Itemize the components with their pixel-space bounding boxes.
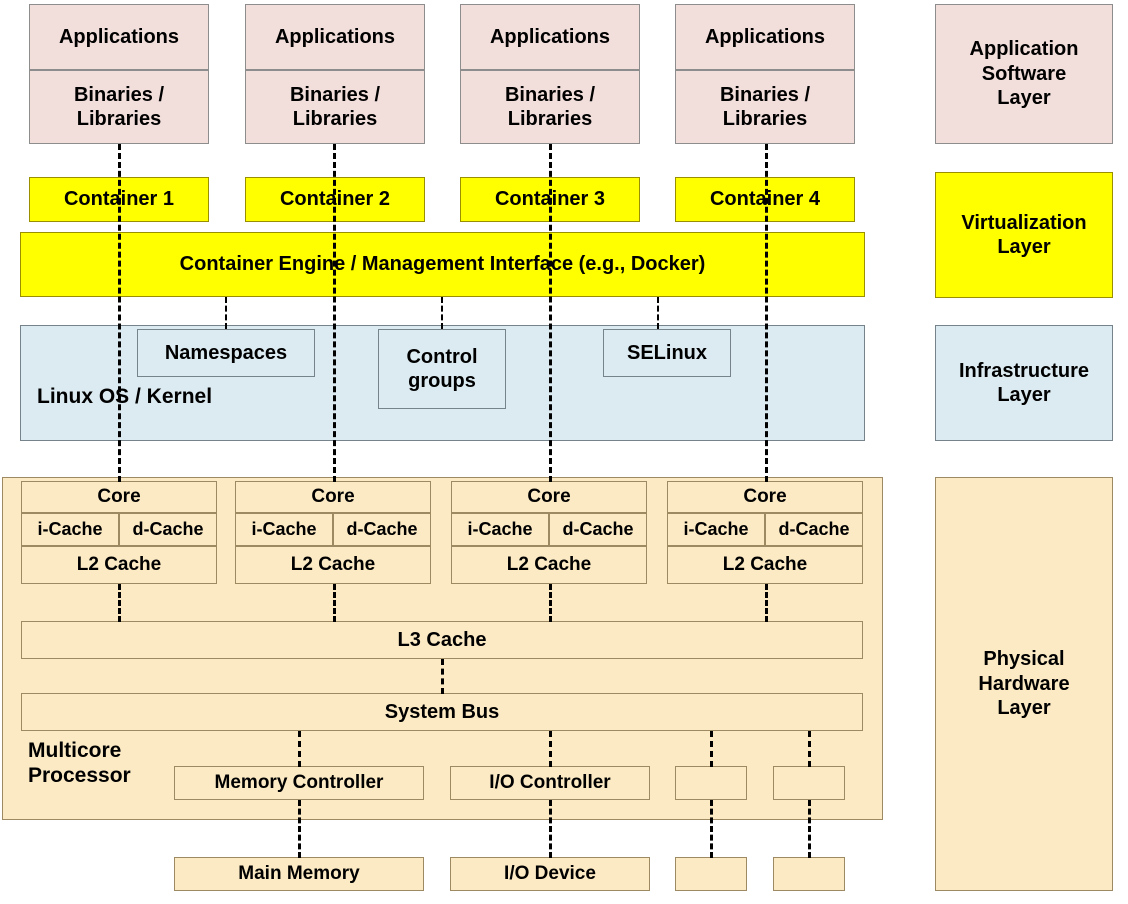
- core-box-1: Core: [21, 481, 217, 513]
- system-bus-bar: System Bus: [21, 693, 863, 731]
- l2-cache-box-2: L2 Cache: [235, 546, 431, 584]
- multicore-processor-label: Multicore Processor: [28, 738, 178, 788]
- dcache-box-1: d-Cache: [119, 513, 217, 546]
- l3-cache-bar: L3 Cache: [21, 621, 863, 659]
- icache-box-4: i-Cache: [667, 513, 765, 546]
- connector-namespaces: [225, 297, 227, 329]
- io-controller-box: I/O Controller: [450, 766, 650, 800]
- applications-box-1: Applications: [29, 4, 209, 70]
- applications-box-2: Applications: [245, 4, 425, 70]
- container-engine-bar: Container Engine / Management Interface …: [20, 232, 865, 297]
- connector-memory-controller-to-main-memory: [298, 800, 301, 858]
- connector-control-groups: [441, 297, 443, 329]
- connector-l2-to-l3-1: [118, 584, 121, 622]
- connector-controller-4-to-peripheral-4: [808, 800, 811, 858]
- icache-box-3: i-Cache: [451, 513, 549, 546]
- l2-cache-box-3: L2 Cache: [451, 546, 647, 584]
- diagram-canvas: Applications Binaries / Libraries Applic…: [0, 0, 1128, 904]
- connector-l2-to-l3-2: [333, 584, 336, 622]
- connector-stack-4: [765, 144, 768, 482]
- layer-label-infrastructure: Infrastructure Layer: [935, 325, 1113, 441]
- connector-l2-to-l3-4: [765, 584, 768, 622]
- connector-stack-1: [118, 144, 121, 482]
- connector-bus-to-controller-3: [710, 731, 713, 767]
- dcache-box-4: d-Cache: [765, 513, 863, 546]
- connector-stack-3: [549, 144, 552, 482]
- layer-label-application-software: Application Software Layer: [935, 4, 1113, 144]
- applications-box-3: Applications: [460, 4, 640, 70]
- connector-selinux: [657, 297, 659, 329]
- connector-bus-to-memory-controller: [298, 731, 301, 767]
- main-memory-box: Main Memory: [174, 857, 424, 891]
- peripheral-box-4: [773, 857, 845, 891]
- core-box-2: Core: [235, 481, 431, 513]
- core-box-4: Core: [667, 481, 863, 513]
- connector-controller-3-to-peripheral-3: [710, 800, 713, 858]
- l2-cache-box-1: L2 Cache: [21, 546, 217, 584]
- dcache-box-2: d-Cache: [333, 513, 431, 546]
- icache-box-1: i-Cache: [21, 513, 119, 546]
- binaries-libraries-box-4: Binaries / Libraries: [675, 70, 855, 144]
- binaries-libraries-box-3: Binaries / Libraries: [460, 70, 640, 144]
- connector-bus-to-controller-4: [808, 731, 811, 767]
- core-box-3: Core: [451, 481, 647, 513]
- connector-l2-to-l3-3: [549, 584, 552, 622]
- dcache-box-3: d-Cache: [549, 513, 647, 546]
- layer-label-virtualization: Virtualization Layer: [935, 172, 1113, 298]
- io-device-box: I/O Device: [450, 857, 650, 891]
- l2-cache-box-4: L2 Cache: [667, 546, 863, 584]
- kernel-feature-selinux: SELinux: [603, 329, 731, 377]
- connector-bus-to-io-controller: [549, 731, 552, 767]
- kernel-feature-control-groups: Control groups: [378, 329, 506, 409]
- connector-io-controller-to-io-device: [549, 800, 552, 858]
- binaries-libraries-box-2: Binaries / Libraries: [245, 70, 425, 144]
- binaries-libraries-box-1: Binaries / Libraries: [29, 70, 209, 144]
- peripheral-box-3: [675, 857, 747, 891]
- layer-label-physical-hardware: Physical Hardware Layer: [935, 477, 1113, 891]
- controller-box-3: [675, 766, 747, 800]
- controller-box-4: [773, 766, 845, 800]
- connector-stack-2: [333, 144, 336, 482]
- icache-box-2: i-Cache: [235, 513, 333, 546]
- memory-controller-box: Memory Controller: [174, 766, 424, 800]
- kernel-feature-namespaces: Namespaces: [137, 329, 315, 377]
- connector-l3-to-bus: [441, 659, 444, 694]
- applications-box-4: Applications: [675, 4, 855, 70]
